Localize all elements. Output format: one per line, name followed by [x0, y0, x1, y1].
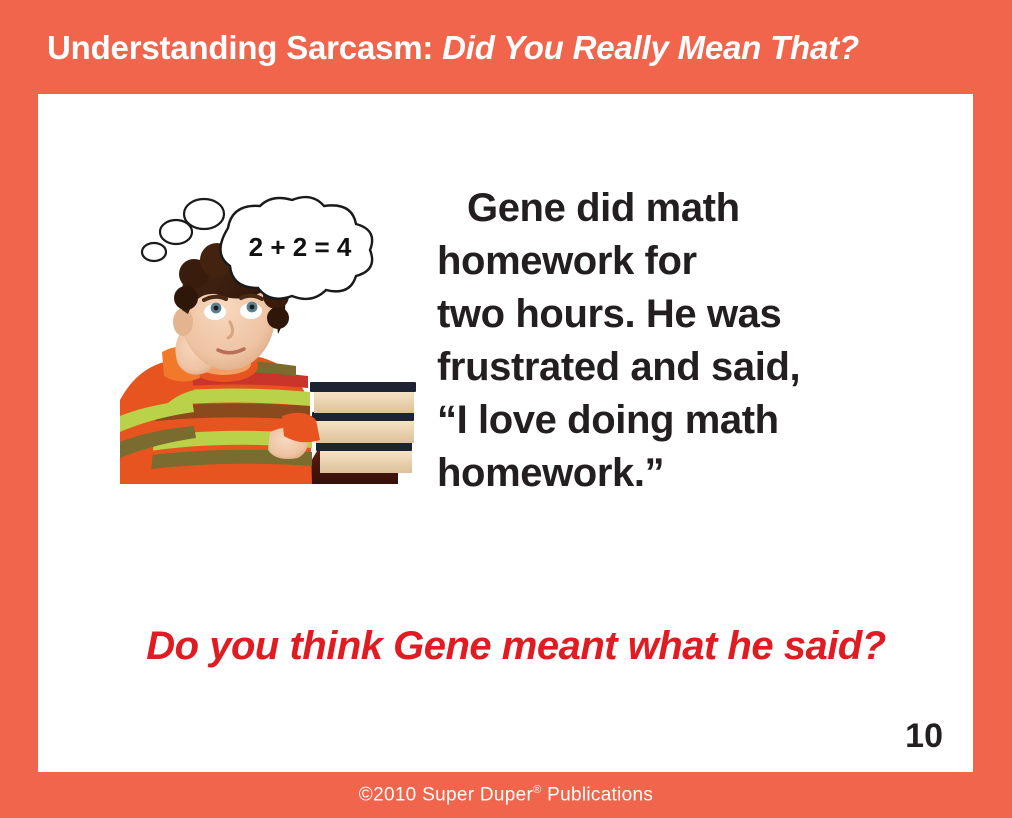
slide: Understanding Sarcasm: Did You Really Me… — [0, 0, 1012, 818]
copyright-notice: ©2010 Super Duper® Publications — [359, 784, 653, 806]
page-number: 10 — [905, 717, 943, 756]
book-stack — [310, 382, 416, 473]
thought-bubble: 2 + 2 = 4 — [220, 197, 372, 299]
story-line-2: homework for — [437, 235, 867, 288]
book-cover-bottom — [316, 442, 412, 451]
story-line-6: homework.” — [437, 447, 867, 500]
page-title-subtitle: Did You Really Mean That? — [442, 29, 859, 66]
book-cover-top — [310, 382, 416, 392]
illustration-scene: 2 + 2 = 4 — [120, 197, 416, 484]
thought-bubble-puffs — [142, 220, 192, 261]
registered-trademark-mark: ® — [533, 784, 541, 796]
book-pages-middle — [316, 421, 414, 443]
page-title: Understanding Sarcasm: Did You Really Me… — [47, 31, 859, 64]
footer-bar: ©2010 Super Duper® Publications — [0, 772, 1012, 818]
thought-bubble-puff-upper — [184, 199, 224, 229]
content-card: 2 + 2 = 4 Gene did math homework for two… — [38, 94, 973, 772]
story-paragraph: Gene did math homework for two hours. He… — [437, 182, 867, 500]
copyright-suffix: Publications — [542, 784, 654, 805]
book-pages-top — [314, 392, 414, 413]
copyright-prefix: ©2010 Super Duper — [359, 784, 533, 805]
book-pages-bottom — [320, 451, 412, 473]
story-line-4: frustrated and said, — [437, 341, 867, 394]
question-prompt: Do you think Gene meant what he said? — [71, 624, 961, 669]
boy-thinking-illustration: 2 + 2 = 4 — [120, 194, 420, 484]
book-cover-middle — [312, 412, 414, 421]
thought-bubble-text: 2 + 2 = 4 — [249, 232, 352, 262]
story-line-5: “I love doing math — [437, 394, 867, 447]
page-title-main: Understanding Sarcasm: — [47, 29, 442, 66]
slide-title-bar: Understanding Sarcasm: Did You Really Me… — [0, 0, 1012, 94]
story-line-3: two hours. He was — [437, 288, 867, 341]
illustration-svg: 2 + 2 = 4 — [120, 194, 420, 484]
story-line-1: Gene did math — [437, 182, 867, 235]
